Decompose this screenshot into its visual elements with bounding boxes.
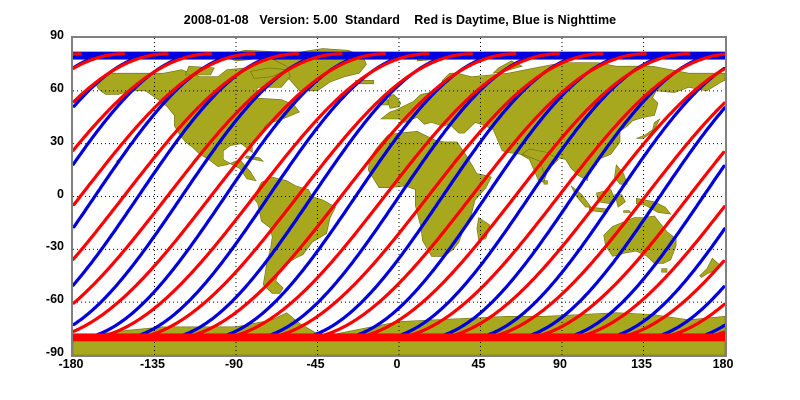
x-axis-ticklabels: -180-135-90-4504590135180 [0,0,800,400]
x-tick-0: 0 [394,357,401,371]
x-tick-90: 90 [553,357,567,371]
x-tick--45: -45 [306,357,324,371]
x-tick-180: 180 [713,357,734,371]
x-tick--90: -90 [225,357,243,371]
x-tick-135: 135 [631,357,652,371]
x-tick--135: -135 [140,357,165,371]
x-tick-45: 45 [472,357,486,371]
x-tick--180: -180 [58,357,83,371]
satellite-groundtrack-figure: 2008-01-08 Version: 5.00 Standard Red is… [0,0,800,400]
